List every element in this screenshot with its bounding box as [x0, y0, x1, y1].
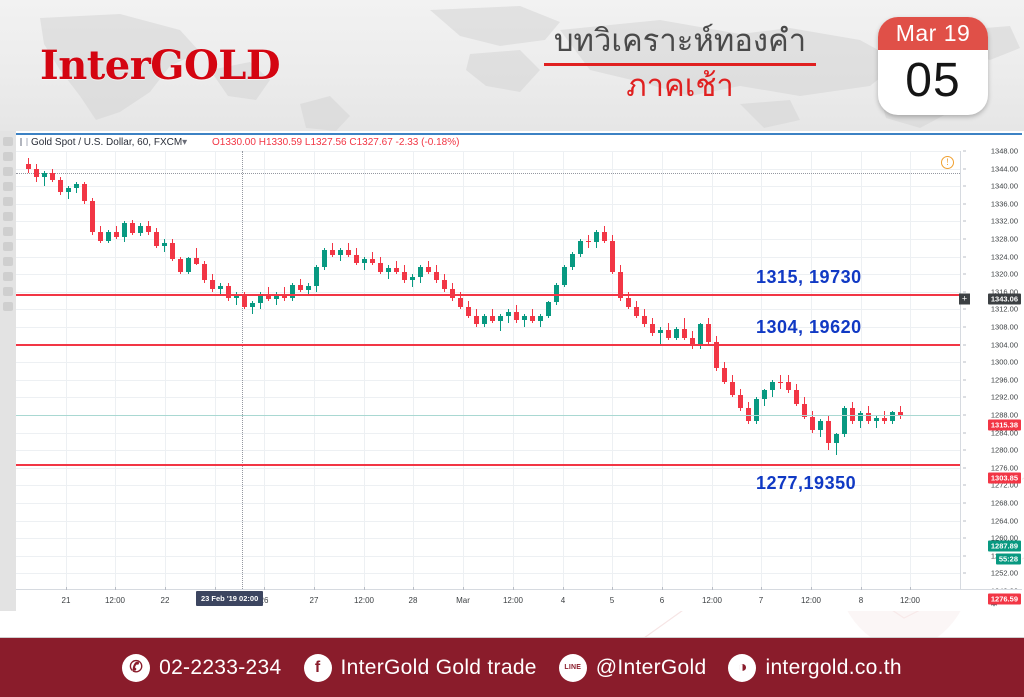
price-axis-label: 1312.00	[991, 305, 1018, 314]
candle-body	[786, 382, 791, 390]
facebook-icon: f	[304, 654, 332, 682]
candle-body	[194, 258, 199, 263]
time-axis-tick	[513, 587, 514, 590]
ohlc-high: 1330.59	[266, 137, 302, 148]
candle-body	[354, 255, 359, 263]
price-axis-tick	[963, 186, 966, 187]
phone-icon: ✆	[122, 654, 150, 682]
time-axis-tick	[761, 587, 762, 590]
toolbar-icon-cursor[interactable]	[3, 137, 13, 146]
chart-legend: Gold Spot / U.S. Dollar, 60, FXCM▾ O1330…	[20, 137, 459, 151]
candle-body	[426, 267, 431, 272]
price-axis-label: 1288.00	[991, 411, 1018, 420]
crosshair-price: 1343.06	[988, 294, 1021, 305]
candle-body	[394, 268, 399, 272]
page-footer: ✆ 02-2233-234 f InterGold Gold trade LIN…	[0, 638, 1024, 697]
price-axis-label: 1264.00	[991, 516, 1018, 525]
grid-line-horizontal	[16, 151, 960, 152]
price-axis-tick	[963, 168, 966, 169]
candle-body	[498, 316, 503, 321]
candle-body	[810, 417, 815, 430]
level-line-2[interactable]	[16, 344, 960, 346]
price-axis-label: 1324.00	[991, 252, 1018, 261]
toolbar-icon-hide[interactable]	[3, 287, 13, 296]
annotation-1304: 1304, 19620	[756, 317, 862, 338]
candle-body	[42, 173, 47, 177]
candle-body	[538, 316, 543, 321]
page-header: InterGOLD บทวิเคราะห์ทองคำ ภาคเช้า Mar 1…	[0, 0, 1024, 131]
candle-body	[114, 232, 119, 237]
time-axis-tick	[612, 587, 613, 590]
grid-line-vertical	[115, 151, 116, 589]
price-axis-tick	[963, 151, 966, 152]
time-axis-label: 6	[660, 596, 664, 605]
brand-logo: InterGOLD	[40, 42, 280, 89]
time-axis-tick	[463, 587, 464, 590]
price-axis-tick	[963, 274, 966, 275]
grid-line-vertical	[662, 151, 663, 589]
crosshair-horizontal	[16, 173, 960, 174]
calendar-badge: Mar 19 05	[878, 17, 988, 115]
ohlc-open-label: O	[212, 137, 220, 148]
grid-line-vertical	[165, 151, 166, 589]
chart-symbol[interactable]: Gold Spot / U.S. Dollar, 60, FXCM	[31, 137, 182, 148]
grid-line-horizontal	[16, 573, 960, 574]
time-axis-label: 4	[561, 596, 565, 605]
candle-body	[170, 243, 175, 259]
price-axis-tick	[963, 520, 966, 521]
bar-countdown: 55:28	[996, 554, 1021, 565]
candle-body	[402, 272, 407, 281]
candle-body	[90, 201, 95, 232]
candle-body	[546, 302, 551, 315]
candle-body	[874, 418, 879, 422]
price-axis-label: 1276.00	[991, 463, 1018, 472]
candle-body	[410, 277, 415, 281]
time-axis-tick	[314, 587, 315, 590]
candle-body	[82, 184, 87, 201]
price-axis-tick	[963, 538, 966, 539]
time-axis-tick	[264, 587, 265, 590]
candle-body	[570, 254, 575, 267]
page-subtitle: ภาคเช้า	[520, 67, 840, 106]
price-axis-label: 1300.00	[991, 358, 1018, 367]
price-axis-label: 1268.00	[991, 499, 1018, 508]
contact-website-text: intergold.co.th	[765, 656, 901, 680]
grid-line-vertical	[861, 151, 862, 589]
toolbar-icon-text[interactable]	[3, 197, 13, 206]
candle-body	[818, 421, 823, 430]
candle-body	[130, 223, 135, 233]
time-axis-label: 12:00	[702, 596, 722, 605]
resistance-1304: 1303.85	[988, 473, 1021, 484]
crosshair-vertical	[242, 151, 243, 589]
candle-body	[98, 232, 103, 241]
annotation-1315: 1315, 19730	[756, 267, 862, 288]
time-axis-tick	[66, 587, 67, 590]
ohlc-change: -2.33 (-0.18%)	[396, 137, 460, 148]
candle-body	[178, 259, 183, 271]
toolbar-icon-patterns[interactable]	[3, 212, 13, 221]
time-axis-label: 12:00	[900, 596, 920, 605]
candle-body	[378, 263, 383, 272]
candle-body	[858, 413, 863, 421]
grid-line-horizontal	[16, 309, 960, 310]
grid-line-horizontal	[16, 538, 960, 539]
price-axis-label: 1344.00	[991, 164, 1018, 173]
candle-body	[74, 184, 79, 188]
candle-body	[218, 286, 223, 290]
time-axis-tick	[364, 587, 365, 590]
candle-body	[362, 259, 367, 263]
candle-body	[210, 280, 215, 289]
price-axis-tick	[963, 344, 966, 345]
candle-body	[146, 226, 151, 232]
grid-line-horizontal	[16, 257, 960, 258]
candle-body	[762, 390, 767, 399]
price-axis-tick	[963, 309, 966, 310]
crosshair-marker: +	[959, 294, 970, 305]
time-axis-label: 27	[310, 596, 319, 605]
candle-body	[138, 226, 143, 233]
candle-body	[674, 329, 679, 338]
candle-body	[626, 298, 631, 307]
price-axis-tick	[963, 415, 966, 416]
price-axis-tick	[963, 362, 966, 363]
tradingview-chart[interactable]: Gold Spot / U.S. Dollar, 60, FXCM▾ O1330…	[16, 133, 1022, 611]
chart-type-icon	[20, 138, 28, 146]
time-axis-label: 5	[610, 596, 614, 605]
candle-body	[482, 316, 487, 325]
price-axis-tick	[963, 573, 966, 574]
candle-body	[50, 173, 55, 180]
candle-body	[698, 324, 703, 346]
price-axis-label: 1308.00	[991, 323, 1018, 332]
price-axis-tick	[963, 467, 966, 468]
candle-body	[418, 267, 423, 277]
candle-body	[834, 434, 839, 443]
grid-line-horizontal	[16, 397, 960, 398]
calendar-month: Mar 19	[878, 17, 988, 50]
time-axis-tick	[910, 587, 911, 590]
candle-body	[154, 232, 159, 246]
grid-line-horizontal	[16, 450, 960, 451]
price-axis-label: 1296.00	[991, 375, 1018, 384]
price-axis-tick	[963, 432, 966, 433]
candle-body	[642, 316, 647, 325]
price-axis-label: 1328.00	[991, 235, 1018, 244]
candle-body	[306, 286, 311, 290]
toolbar-icon-shapes[interactable]	[3, 182, 13, 191]
grid-line-horizontal	[16, 380, 960, 381]
candle-body	[466, 307, 471, 316]
candle-body	[370, 259, 375, 263]
candle-body	[586, 241, 591, 243]
candle-body	[882, 418, 887, 422]
resistance-1315: 1315.38	[988, 420, 1021, 431]
price-axis-label: 1340.00	[991, 182, 1018, 191]
toolbar-icon-magnet[interactable]	[3, 257, 13, 266]
price-axis-tick	[963, 555, 966, 556]
grid-line-vertical	[761, 151, 762, 589]
contact-facebook[interactable]: f InterGold Gold trade	[304, 654, 537, 682]
candle-body	[866, 413, 871, 421]
time-axis-tick	[215, 587, 216, 590]
grid-line-horizontal	[16, 186, 960, 187]
grid-line-vertical	[612, 151, 613, 589]
last-price: 1287.89	[988, 541, 1021, 552]
candle-body	[314, 267, 319, 285]
grid-line-horizontal	[16, 204, 960, 205]
level-line-3[interactable]	[16, 464, 960, 466]
globe-icon: ◑	[728, 654, 756, 682]
price-axis-tick	[963, 379, 966, 380]
price-axis-tick	[963, 221, 966, 222]
candle-body	[122, 223, 127, 237]
candle-body	[706, 324, 711, 342]
candle-body	[58, 180, 63, 193]
candle-body	[442, 280, 447, 289]
time-axis-label: 12:00	[354, 596, 374, 605]
time-axis-label: 7	[759, 596, 763, 605]
chart-plot-area[interactable]: 1315, 197301304, 196201277,19350	[16, 151, 960, 589]
candle-body	[322, 250, 327, 268]
candle-body	[474, 316, 479, 325]
time-axis-label: 12:00	[503, 596, 523, 605]
grid-line-vertical	[712, 151, 713, 589]
grid-line-horizontal	[16, 521, 960, 522]
grid-line-horizontal	[16, 556, 960, 557]
contact-website[interactable]: ◑ intergold.co.th	[728, 654, 901, 682]
price-axis-label: 1332.00	[991, 217, 1018, 226]
candle-body	[722, 368, 727, 381]
toolbar-icon-zoom[interactable]	[3, 242, 13, 251]
candle-body	[434, 272, 439, 280]
price-axis-tick	[963, 239, 966, 240]
price-axis-label: 1348.00	[991, 147, 1018, 156]
price-axis-tick	[963, 327, 966, 328]
time-axis-label: Mar	[456, 596, 470, 605]
contact-phone-text: 02-2233-234	[159, 656, 281, 680]
candle-body	[730, 382, 735, 395]
grid-line-vertical	[413, 151, 414, 589]
price-axis-tick	[963, 485, 966, 486]
price-axis-tick	[963, 256, 966, 257]
candle-body	[610, 241, 615, 272]
candle-body	[602, 232, 607, 241]
grid-line-vertical	[910, 151, 911, 589]
candle-body	[826, 421, 831, 443]
grid-line-vertical	[314, 151, 315, 589]
candle-body	[594, 232, 599, 242]
time-axis-tick	[413, 587, 414, 590]
candle-body	[770, 382, 775, 391]
page-title: บทวิเคราะห์ทองคำ	[520, 22, 840, 61]
candle-body	[634, 307, 639, 316]
time-axis-label: 22	[161, 596, 170, 605]
toolbar-icon-fib[interactable]	[3, 167, 13, 176]
price-axis-label: 1304.00	[991, 340, 1018, 349]
contact-line[interactable]: LINE @InterGold	[559, 654, 707, 682]
last-price-line	[16, 415, 960, 416]
grid-line-vertical	[215, 151, 216, 589]
toolbar-icon-trendline[interactable]	[3, 152, 13, 161]
candle-body	[298, 285, 303, 290]
candle-body	[682, 329, 687, 338]
candle-body	[106, 232, 111, 241]
candle-body	[658, 330, 663, 334]
price-axis-tick	[963, 397, 966, 398]
grid-line-horizontal	[16, 468, 960, 469]
candle-body	[514, 312, 519, 320]
candle-body	[34, 169, 39, 178]
candle-body	[794, 390, 799, 403]
price-axis-label: 1280.00	[991, 446, 1018, 455]
time-axis-tick	[811, 587, 812, 590]
chevron-down-icon[interactable]: ▾	[182, 137, 187, 148]
time-axis-tick	[115, 587, 116, 590]
contact-facebook-text: InterGold Gold trade	[341, 656, 537, 680]
candle-body	[338, 250, 343, 254]
price-axis-label: 1252.00	[991, 569, 1018, 578]
grid-line-vertical	[463, 151, 464, 589]
grid-line-vertical	[811, 151, 812, 589]
candle-body	[346, 250, 351, 254]
candle-body	[26, 164, 31, 168]
ohlc-low: 1327.56	[310, 137, 346, 148]
candle-body	[842, 408, 847, 434]
grid-line-horizontal	[16, 169, 960, 170]
calendar-day: 05	[878, 50, 988, 115]
line-icon: LINE	[559, 654, 587, 682]
grid-line-horizontal	[16, 503, 960, 504]
price-axis-tick	[963, 291, 966, 292]
time-axis[interactable]: 2112:002215:00262712:0028Mar12:0045612:0…	[16, 589, 1022, 611]
ohlc-open: 1330.00	[220, 137, 256, 148]
ohlc-close: 1327.67	[357, 137, 393, 148]
ohlc-close-label: C	[349, 137, 356, 148]
price-axis-label: 1336.00	[991, 199, 1018, 208]
grid-line-vertical	[513, 151, 514, 589]
candle-body	[666, 330, 671, 338]
grid-line-horizontal	[16, 362, 960, 363]
candle-body	[330, 250, 335, 255]
header-title-block: บทวิเคราะห์ทองคำ ภาคเช้า	[520, 22, 840, 106]
time-axis-tick	[563, 587, 564, 590]
grid-line-vertical	[66, 151, 67, 589]
level-line-1[interactable]	[16, 294, 960, 296]
candle-body	[186, 258, 191, 271]
time-axis-tick	[712, 587, 713, 590]
title-divider	[544, 63, 816, 66]
support-1277: 1276.59	[988, 594, 1021, 605]
candle-body	[506, 312, 511, 316]
price-axis-label: 1292.00	[991, 393, 1018, 402]
time-axis-label: 8	[859, 596, 863, 605]
time-axis-label: 28	[409, 596, 418, 605]
time-axis-highlight: 23 Feb '19 02:00	[196, 591, 263, 606]
candle-body	[522, 316, 527, 320]
candle-body	[226, 286, 231, 298]
time-axis-tick	[165, 587, 166, 590]
grid-line-horizontal	[16, 433, 960, 434]
candle-body	[290, 285, 295, 298]
time-axis-tick	[861, 587, 862, 590]
candle-body	[890, 412, 895, 421]
time-axis-label: 12:00	[801, 596, 821, 605]
candle-body	[250, 303, 255, 307]
price-axis[interactable]: 1348.001344.001340.001336.001332.001328.…	[960, 151, 1022, 589]
candle-body	[650, 324, 655, 333]
price-axis-tick	[963, 203, 966, 204]
toolbar-icon-trash[interactable]	[3, 302, 13, 311]
contact-line-text: @InterGold	[596, 656, 707, 680]
grid-line-vertical	[264, 151, 265, 589]
candle-body	[490, 316, 495, 321]
contact-phone[interactable]: ✆ 02-2233-234	[122, 654, 281, 682]
candle-body	[738, 395, 743, 408]
price-axis-tick	[963, 503, 966, 504]
time-axis-label: 12:00	[105, 596, 125, 605]
ohlc-high-label: H	[259, 137, 266, 148]
grid-line-horizontal	[16, 221, 960, 222]
candle-body	[530, 316, 535, 320]
candle-body	[202, 264, 207, 281]
candle-body	[754, 399, 759, 421]
time-axis-tick	[662, 587, 663, 590]
candle-body	[562, 267, 567, 285]
toolbar-icon-lock[interactable]	[3, 272, 13, 281]
chart-ohlc: O1330.00 H1330.59 L1327.56 C1327.67 -2.3…	[212, 137, 459, 148]
candle-body	[66, 188, 71, 192]
candle-body	[162, 243, 167, 246]
price-axis-label: 1320.00	[991, 270, 1018, 279]
chart-drawing-toolbar[interactable]	[0, 131, 16, 611]
candle-body	[242, 294, 247, 306]
annotation-1277: 1277,19350	[756, 473, 856, 494]
candle-body	[386, 268, 391, 272]
grid-line-vertical	[364, 151, 365, 589]
time-axis-label: 21	[62, 596, 71, 605]
price-axis-tick	[963, 450, 966, 451]
candle-body	[778, 382, 783, 384]
grid-line-vertical	[563, 151, 564, 589]
candle-body	[458, 298, 463, 307]
candle-body	[578, 241, 583, 254]
toolbar-icon-measure[interactable]	[3, 227, 13, 236]
